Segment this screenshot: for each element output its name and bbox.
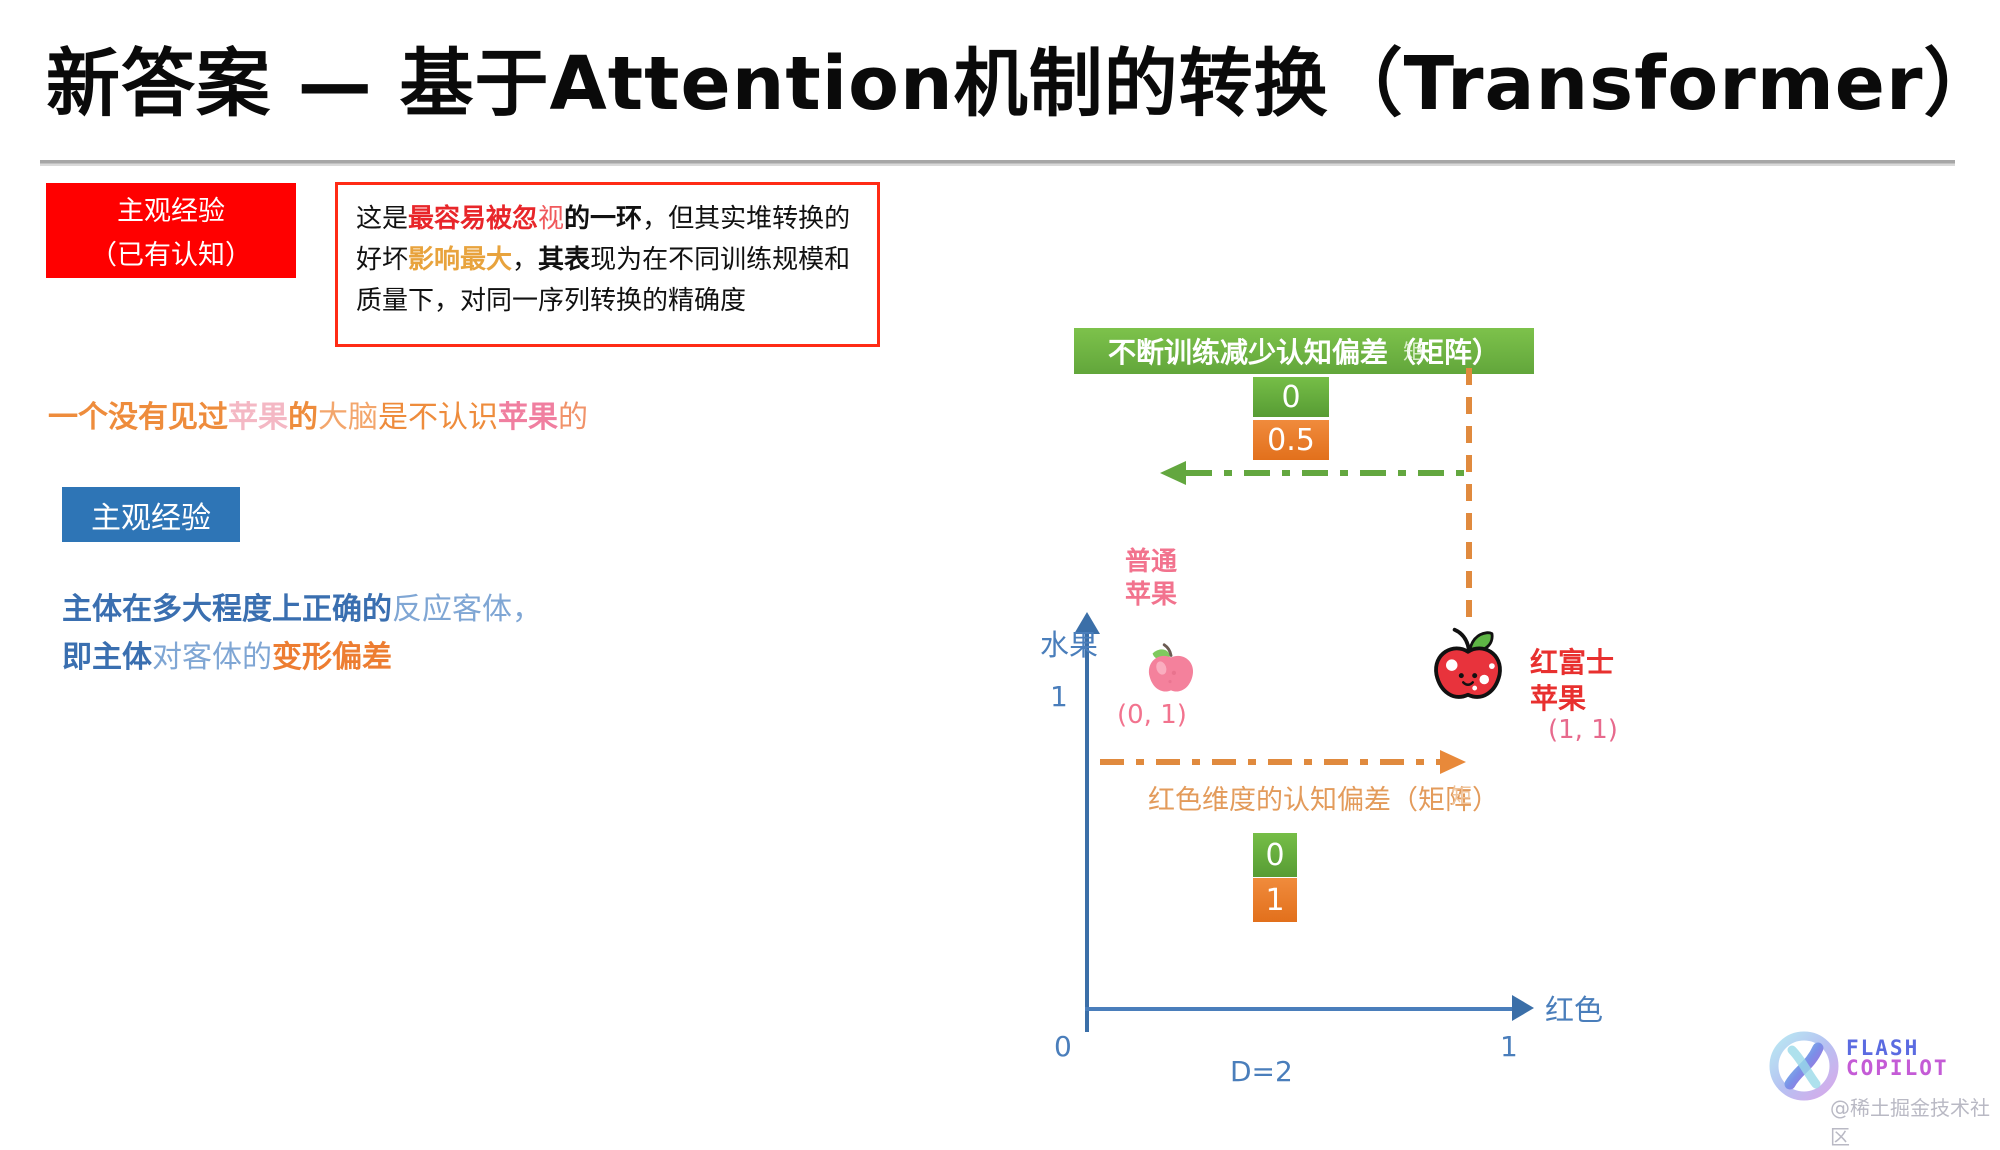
x-axis-label: 红色: [1545, 987, 1603, 1029]
sentence-part-3: 的: [288, 400, 318, 435]
note-seg-2-highlight: 最容易被忽: [408, 204, 538, 234]
flash-copilot-wordmark: FLASH COPILOT: [1846, 1038, 1949, 1078]
fuji-apple-coordinate: (1, 1): [1548, 715, 1618, 745]
y-axis-label: 水果: [1040, 622, 1098, 664]
pink-apple-icon: [1140, 638, 1202, 700]
red-tag-line-2: （已有认知）: [46, 233, 296, 277]
blue-tag-label: 主观经验: [91, 493, 211, 537]
top-matrix-green-value: 0: [1253, 377, 1329, 417]
x-axis-tick-1: 1: [1500, 1030, 1518, 1063]
red-dimension-bias-label: 红色维度的认知偏差（矩阵） 矩: [1148, 778, 1499, 817]
training-banner-label: 不断训练减少认知偏差（矩阵）: [1108, 331, 1500, 371]
note-seg-4: 的一环: [564, 204, 642, 234]
subjective-experience-description: 主体在多大程度上正确的反应客体， 即主体对客体的变形偏差: [62, 586, 702, 682]
note-seg-1: 这是: [356, 204, 408, 234]
note-seg-8: 其表: [538, 245, 590, 275]
page-title: 新答案 — 基于Attention机制的转换（Transformer）: [46, 24, 1956, 131]
sentence-part-6: 不认识: [408, 400, 498, 435]
y-axis: [1085, 627, 1089, 1032]
x-axis-arrow-icon: [1512, 995, 1534, 1021]
note-seg-6-highlight: 影响最大: [408, 245, 512, 275]
gradient-sentence: 一个没有见过苹果的大脑是不认识苹果的: [48, 392, 588, 436]
sentence-part-7-apple: 苹果: [498, 400, 558, 435]
x-axis-tick-0: 0: [1054, 1030, 1072, 1063]
orange-arrow-head-icon: [1440, 750, 1466, 774]
note-seg-7: ，: [512, 245, 538, 275]
red-dimension-bias-text: 红色维度的认知偏差（矩阵）: [1148, 785, 1499, 816]
bottom-matrix-orange-value: 1: [1253, 878, 1297, 922]
desc-part-1: 主体在多大程度上正确的: [62, 592, 392, 627]
normal-apple-label-line-1: 普通: [1118, 546, 1184, 579]
red-apple-icon: [1425, 625, 1511, 711]
green-dashed-line: [1186, 470, 1471, 476]
desc-part-6-deformation-bias: 变形偏差: [272, 640, 392, 675]
desc-part-5: 对客体的: [152, 640, 272, 675]
watermark-handle: @稀土掘金技术社区: [1830, 1092, 2000, 1150]
training-banner-overlay-glyph: 矩: [1403, 336, 1424, 366]
fuji-apple-label-line-1: 红富士: [1530, 645, 1614, 681]
sentence-part-2-apple: 苹果: [228, 400, 288, 435]
wordmark-line-1: FLASH: [1846, 1038, 1949, 1058]
orange-dashed-line: [1100, 759, 1440, 765]
y-axis-tick-1: 1: [1050, 680, 1068, 713]
normal-apple-label: 普通 苹果: [1118, 546, 1184, 612]
note-seg-3-highlight: 视: [538, 204, 564, 234]
sentence-part-4-brain: 大脑: [318, 400, 378, 435]
note-box: 这是最容易被忽视的一环，但其实堆转换的好坏影响最大，其表现为在不同训练规模和质量…: [335, 182, 880, 347]
red-dimension-bias-overlay-glyph: 矩: [1451, 780, 1472, 810]
fuji-apple-label-line-2: 苹果: [1530, 681, 1614, 717]
desc-part-2: 反应客体: [392, 592, 512, 627]
wordmark-line-2: COPILOT: [1846, 1058, 1949, 1078]
desc-part-3: ，: [512, 592, 542, 627]
normal-apple-coordinate: (0, 1): [1117, 700, 1187, 730]
bottom-matrix-green-value: 0: [1253, 833, 1297, 877]
dimension-note: D=2: [1230, 1055, 1293, 1088]
subjective-experience-blue-tag: 主观经验: [62, 487, 240, 542]
sentence-part-8: 的: [558, 400, 588, 435]
subjective-experience-red-tag: 主观经验 （已有认知）: [46, 183, 296, 278]
title-divider: [40, 160, 1955, 166]
fuji-apple-label: 红富士 苹果: [1530, 645, 1614, 717]
top-matrix-orange-value: 0.5: [1253, 420, 1329, 460]
normal-apple-label-line-2: 苹果: [1118, 579, 1184, 612]
green-arrow-head-icon: [1160, 461, 1186, 485]
x-axis: [1085, 1007, 1516, 1011]
training-reduces-bias-banner: 不断训练减少认知偏差（矩阵） 矩: [1074, 328, 1534, 374]
red-tag-line-1: 主观经验: [46, 189, 296, 233]
orange-vertical-dashed-line: [1466, 368, 1472, 623]
desc-part-4: 即主体: [62, 640, 152, 675]
sentence-part-5: 是: [378, 400, 408, 435]
sentence-part-1: 一个没有见过: [48, 400, 228, 435]
